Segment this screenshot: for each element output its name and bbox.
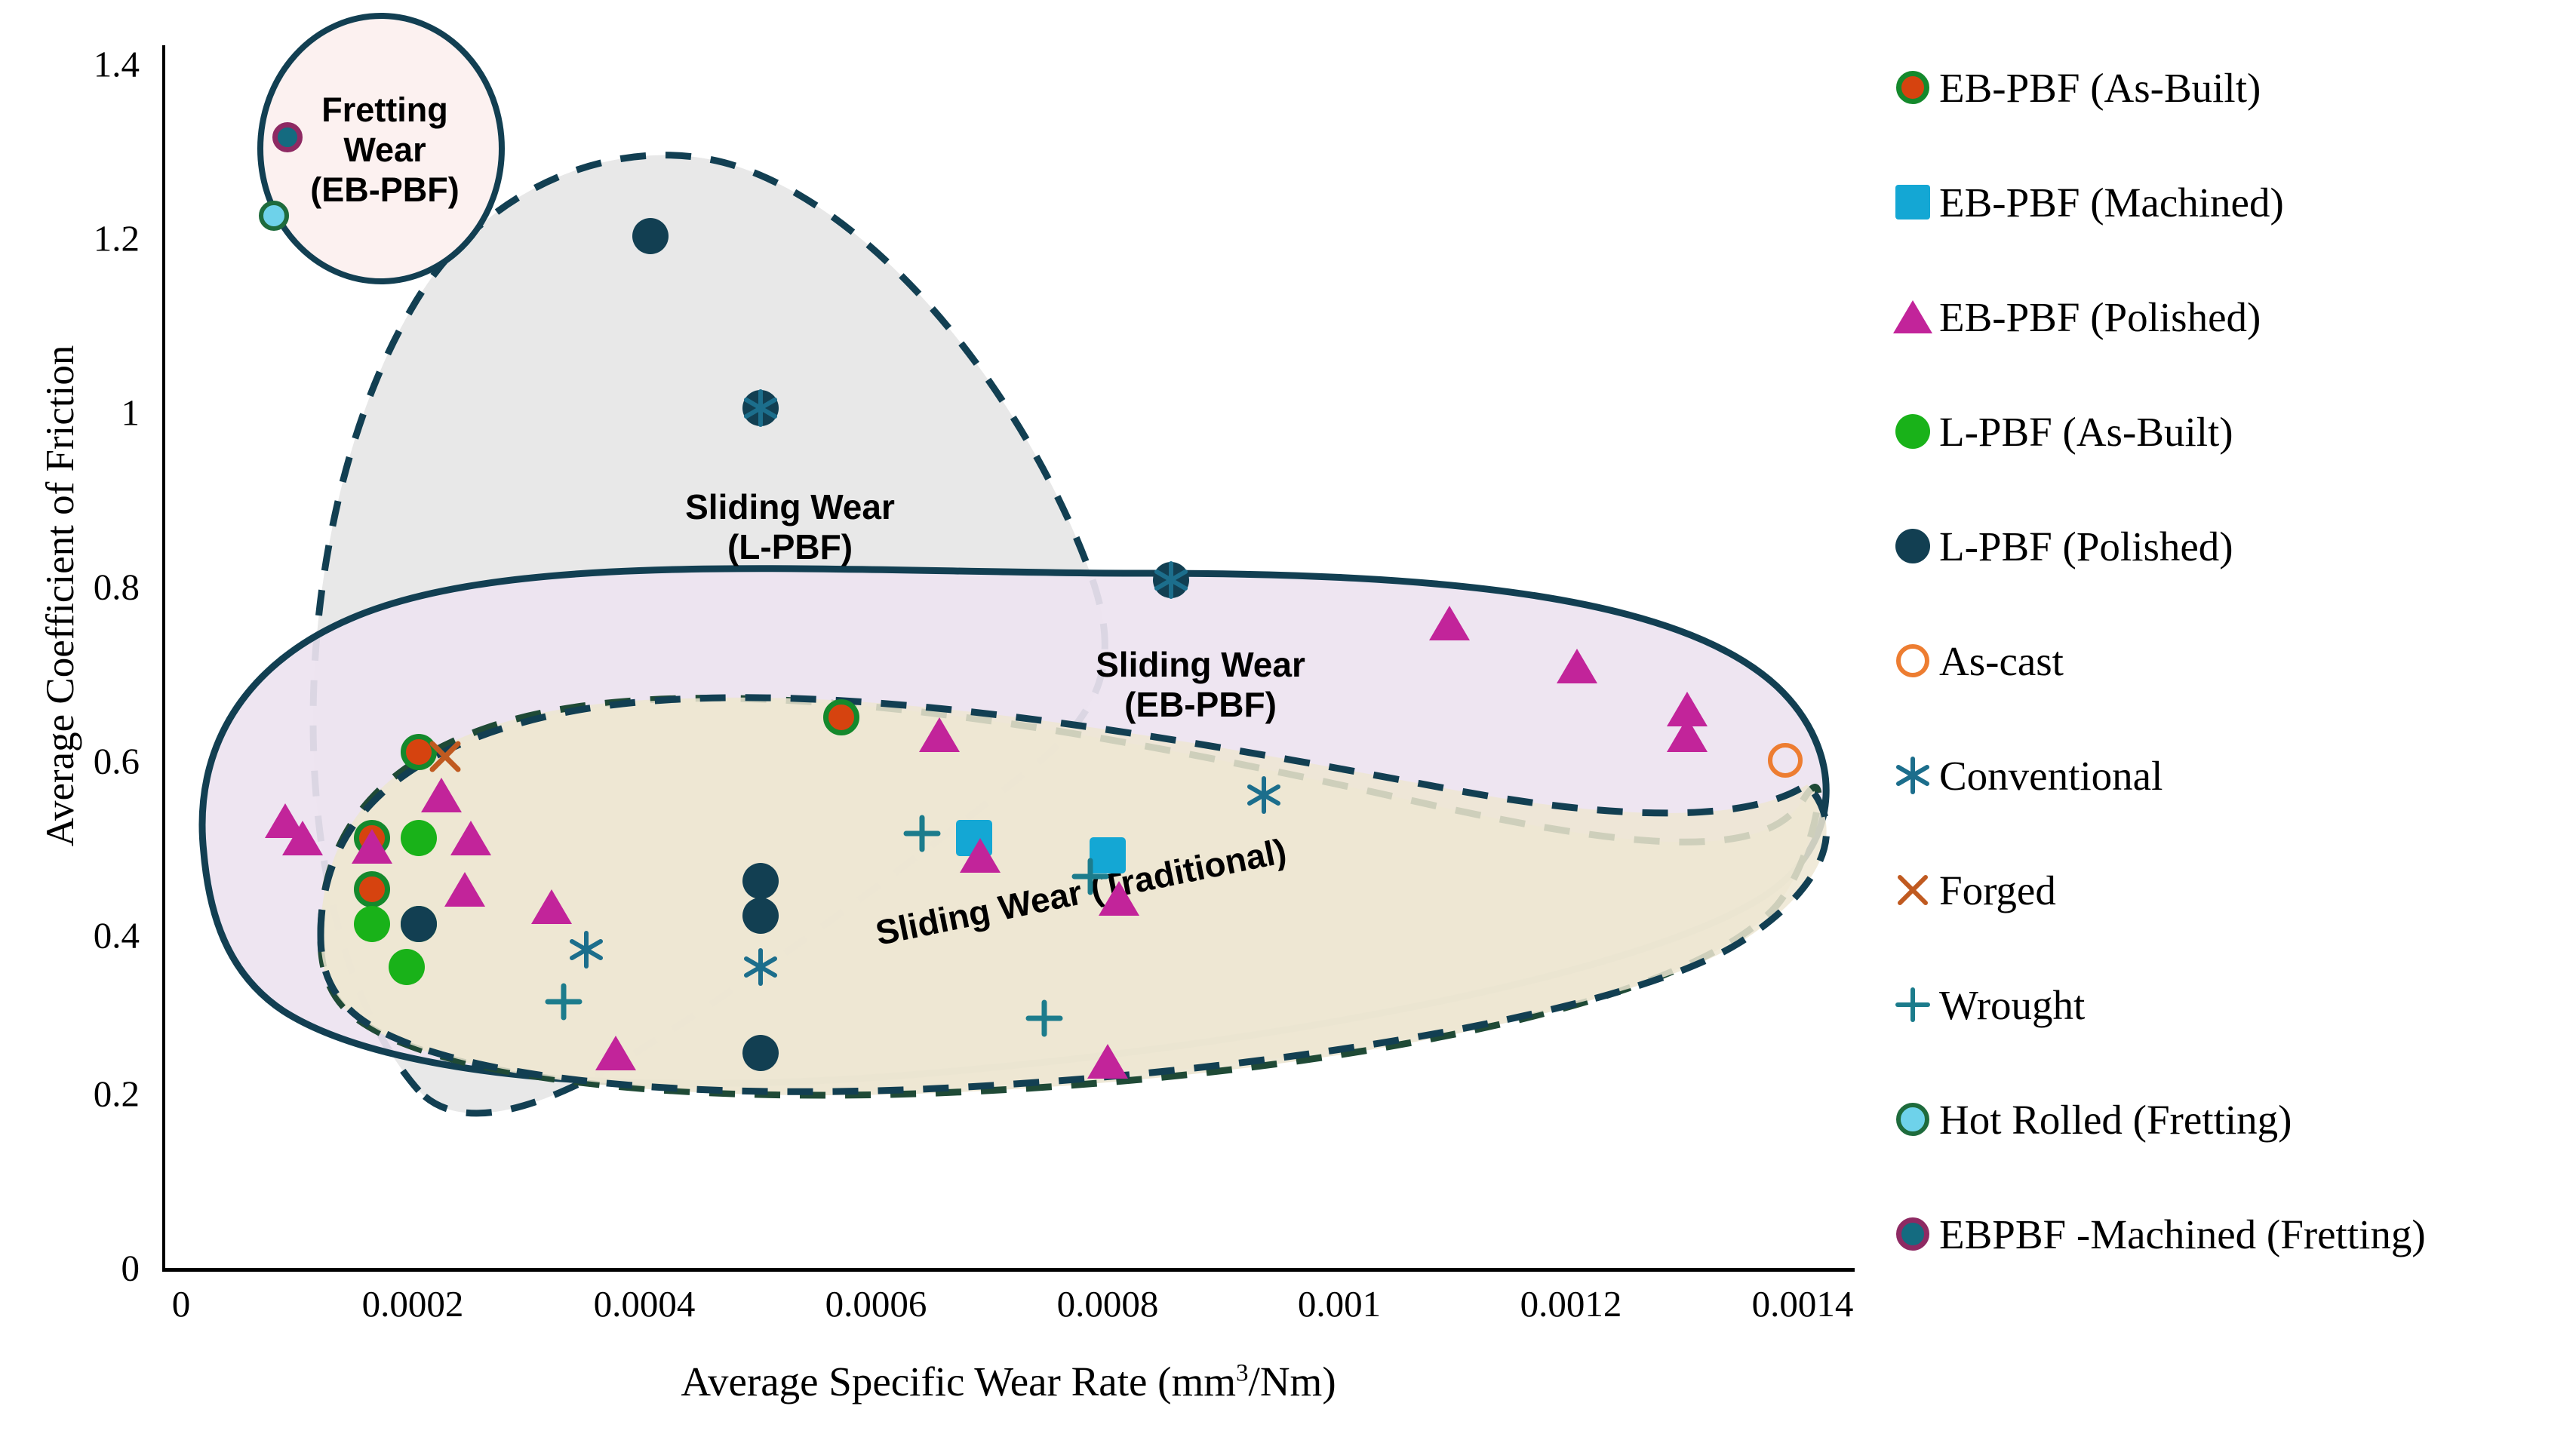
- data-point-l-pbf-as-built: [401, 820, 437, 856]
- data-point-conventional: [1151, 560, 1191, 600]
- data-point-forged: [426, 737, 465, 776]
- legend-item-ebpbf-polished[interactable]: EB-PBF (Polished): [1886, 259, 2565, 374]
- data-point-eb-pbf-polished: [352, 829, 392, 864]
- data-point-l-pbf-polished: [401, 906, 437, 942]
- circle-green-icon: [1886, 405, 1939, 458]
- circle-teal-purple-ring-icon: [1886, 1208, 1939, 1260]
- x-tick-0.0012: 0.0012: [1520, 1282, 1622, 1325]
- data-point-l-pbf-polished: [742, 898, 779, 934]
- x-axis-line: [162, 1268, 1855, 1272]
- y-tick-0.8: 0.8: [94, 566, 140, 609]
- data-point-l-pbf-as-built: [389, 949, 425, 985]
- x-tick-0.0008: 0.0008: [1057, 1282, 1159, 1325]
- legend-label-8: Wrought: [1939, 984, 2085, 1026]
- inset-label-line1: Fretting: [321, 91, 447, 129]
- data-point-eb-pbf-polished: [1087, 1044, 1128, 1079]
- data-point-l-pbf-polished: [742, 863, 779, 899]
- asterisk-teal-icon: [1886, 749, 1939, 802]
- data-point-conventional: [1243, 775, 1284, 815]
- x-tick-0.0002: 0.0002: [362, 1282, 464, 1325]
- data-point-as-cast: [1768, 743, 1803, 778]
- plus-teal-icon: [1886, 978, 1939, 1031]
- data-point-wrought: [543, 981, 584, 1022]
- data-point-eb-pbf-polished: [282, 821, 323, 855]
- legend-label-3: L-PBF (As-Built): [1939, 411, 2233, 453]
- data-point-l-pbf-polished: [742, 1035, 779, 1071]
- legend-label-0: EB-PBF (As-Built): [1939, 67, 2261, 109]
- triangle-magenta-icon: [1886, 290, 1939, 343]
- y-tick-0.4: 0.4: [94, 914, 140, 957]
- legend-label-5: As-cast: [1939, 640, 2064, 682]
- legend-item-as-cast[interactable]: As-cast: [1886, 603, 2565, 718]
- y-tick-1.2: 1.2: [94, 217, 140, 260]
- legend-item-ebpbf-machined-fretting[interactable]: EBPBF -Machined (Fretting): [1886, 1177, 2565, 1291]
- data-point-wrought: [1024, 998, 1065, 1039]
- data-point-eb-pbf-polished: [960, 838, 1001, 873]
- circle-cyan-green-ring-icon: [1886, 1093, 1939, 1146]
- data-point-eb-pbf-polished: [1557, 649, 1597, 683]
- legend-label-10: EBPBF -Machined (Fretting): [1939, 1214, 2426, 1255]
- fretting-wear-inset: Fretting Wear (EB-PBF): [254, 11, 508, 287]
- data-point-l-pbf-polished: [632, 218, 669, 254]
- legend-label-1: EB-PBF (Machined): [1939, 182, 2284, 223]
- data-point-l-pbf-as-built: [354, 906, 390, 942]
- y-tick-0.6: 0.6: [94, 740, 140, 783]
- inset-label-line3: (EB-PBF): [310, 170, 459, 209]
- x-tick-0.0004: 0.0004: [594, 1282, 696, 1325]
- x-tick-0: 0: [172, 1282, 191, 1325]
- legend-item-wrought[interactable]: Wrought: [1886, 947, 2565, 1062]
- y-tick-1: 1: [121, 391, 140, 434]
- legend-label-4: L-PBF (Polished): [1939, 526, 2233, 567]
- data-point-wrought: [902, 813, 942, 854]
- y-axis-title: Average Coefficient of Friction: [38, 309, 83, 883]
- legend-item-ebpbf-machined[interactable]: EB-PBF (Machined): [1886, 145, 2565, 259]
- x-tick-0.0006: 0.0006: [825, 1282, 927, 1325]
- x-tick-0.001: 0.001: [1298, 1282, 1381, 1325]
- legend-label-6: Conventional: [1939, 755, 2163, 797]
- legend-item-ebpbf-as-built[interactable]: EB-PBF (As-Built): [1886, 30, 2565, 145]
- x-axis-title-sup: 3: [1236, 1360, 1249, 1387]
- cross-orange-icon: [1886, 864, 1939, 916]
- legend-item-lpbf-as-built[interactable]: L-PBF (As-Built): [1886, 374, 2565, 489]
- data-point-eb-pbf-polished: [919, 717, 960, 752]
- x-axis-title-pre: Average Specific Wear Rate (mm: [681, 1358, 1236, 1404]
- data-point-conventional: [740, 388, 781, 428]
- legend: EB-PBF (As-Built) EB-PBF (Machined) EB-P…: [1886, 30, 2565, 1291]
- y-tick-1.4: 1.4: [94, 43, 140, 86]
- legend-label-7: Forged: [1939, 870, 2056, 911]
- circle-orange-green-ring-icon: [1886, 61, 1939, 114]
- legend-label-9: Hot Rolled (Fretting): [1939, 1099, 2292, 1140]
- circle-navy-icon: [1886, 520, 1939, 573]
- legend-item-forged[interactable]: Forged: [1886, 833, 2565, 947]
- open-circle-orange-icon: [1886, 634, 1939, 687]
- data-point-eb-pbf-as-built: [823, 699, 859, 735]
- data-point-eb-pbf-polished: [1667, 717, 1708, 752]
- data-point-eb-pbf-polished: [444, 872, 485, 907]
- y-tick-0.2: 0.2: [94, 1073, 140, 1116]
- data-point-conventional: [566, 929, 607, 970]
- x-axis-title: Average Specific Wear Rate (mm3/Nm): [162, 1358, 1855, 1405]
- square-cyan-icon: [1886, 176, 1939, 229]
- data-point-eb-pbf-as-built: [354, 871, 390, 907]
- x-axis-title-post: /Nm): [1249, 1358, 1336, 1404]
- data-point-eb-pbf-polished: [531, 889, 572, 924]
- data-point-eb-pbf-polished: [1429, 606, 1470, 640]
- data-point-eb-pbf-polished: [450, 821, 491, 855]
- inset-label-line2: Wear: [343, 130, 426, 169]
- inset-marker-ebpbf-machined-fretting: [272, 122, 303, 152]
- chart-root: 1.4 1.2 1 0.8 0.6 0.4 0.2 0 Average Coef…: [0, 0, 2576, 1449]
- legend-label-2: EB-PBF (Polished): [1939, 296, 2261, 338]
- legend-item-lpbf-polished[interactable]: L-PBF (Polished): [1886, 489, 2565, 603]
- data-point-eb-pbf-polished: [421, 778, 462, 812]
- data-point-wrought: [1070, 856, 1111, 897]
- data-point-conventional: [740, 947, 781, 987]
- legend-item-conventional[interactable]: Conventional: [1886, 718, 2565, 833]
- legend-item-hot-rolled-fretting[interactable]: Hot Rolled (Fretting): [1886, 1062, 2565, 1177]
- x-tick-0.0014: 0.0014: [1752, 1282, 1854, 1325]
- inset-label: Fretting Wear (EB-PBF): [290, 90, 479, 210]
- data-point-eb-pbf-polished: [595, 1036, 636, 1070]
- inset-marker-hot-rolled-fretting: [259, 201, 289, 231]
- y-tick-0: 0: [121, 1247, 140, 1290]
